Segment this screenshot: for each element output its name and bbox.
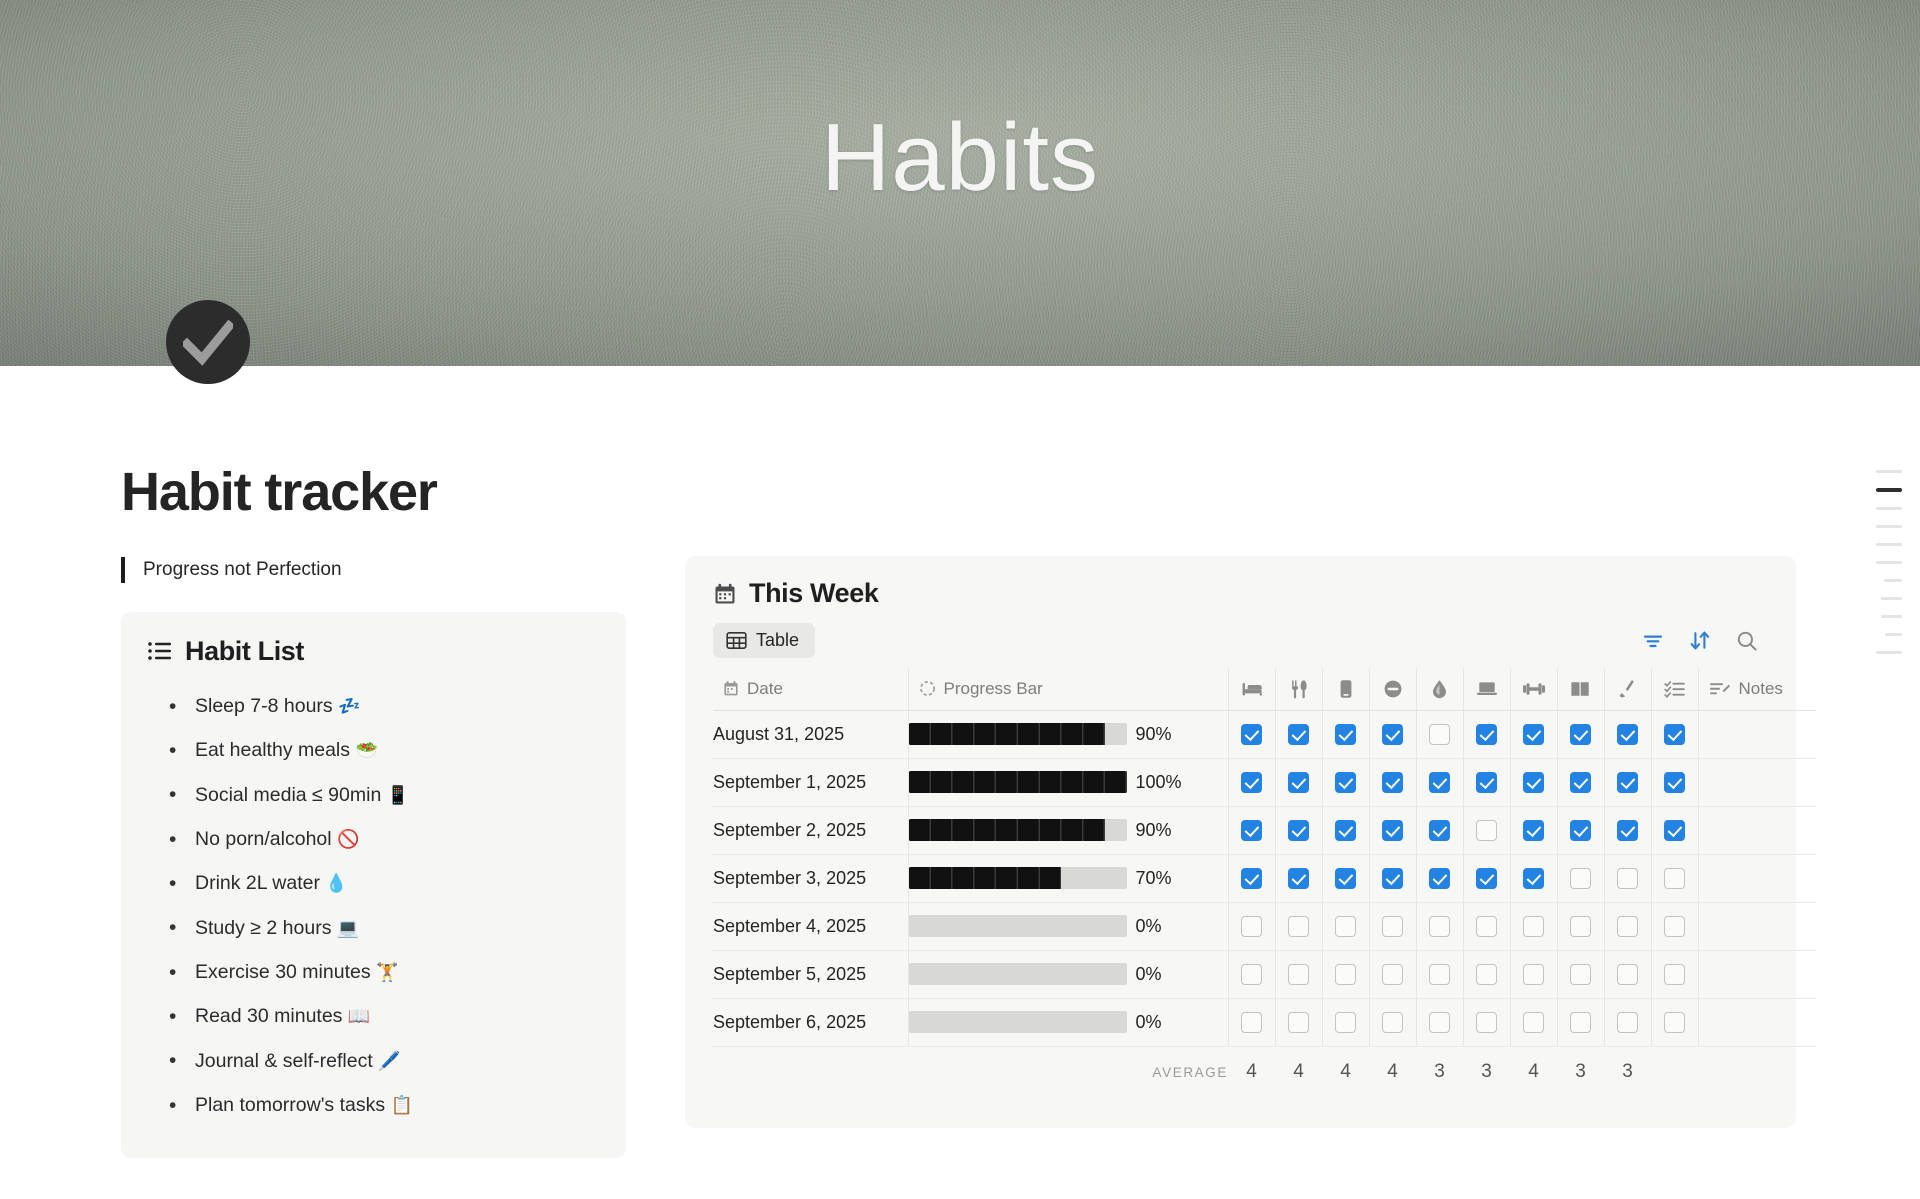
table-row[interactable]: August 31, 2025 90% [713,710,1816,758]
cell-notes[interactable] [1698,758,1816,806]
cell-checkbox[interactable] [1228,710,1275,758]
cell-checkbox[interactable] [1557,758,1604,806]
progress-bar [909,1011,1127,1033]
table-icon [726,630,747,651]
summary-value[interactable] [1651,1046,1698,1098]
habit-table: Date Progress Bar [713,668,1816,1098]
progress-percent: 70% [1136,868,1172,889]
fork-knife-icon [1290,679,1308,699]
list-item[interactable]: No porn/alcohol 🚫 [195,818,600,862]
habit-checkbox [1617,1012,1638,1033]
checklist-icon [1664,680,1686,698]
habit-checkbox [1241,724,1262,745]
outline-item[interactable] [1876,651,1902,654]
cell-checkbox[interactable] [1510,710,1557,758]
habit-checkbox [1664,724,1685,745]
habit-label: Sleep 7-8 hours [195,695,333,717]
habit-checkbox [1664,772,1685,793]
habit-checkbox [1382,1012,1403,1033]
summary-value[interactable]: 3 [1557,1046,1604,1098]
toolbar-icon-group [1642,630,1764,652]
cell-checkbox[interactable] [1557,806,1604,854]
outline-item[interactable] [1876,543,1902,546]
habit-checkbox [1570,1012,1591,1033]
cell-checkbox[interactable] [1228,902,1275,950]
list-item[interactable]: Drink 2L water 💧 [195,862,600,906]
habit-checkbox [1664,820,1685,841]
notes-pencil-icon [1709,680,1731,698]
cell-notes[interactable] [1698,854,1816,902]
habit-emoji: 📋 [391,1095,413,1115]
cell-checkbox[interactable] [1416,710,1463,758]
outline-item[interactable] [1884,579,1902,582]
habit-checkbox [1476,820,1497,841]
habit-checkbox [1241,1012,1262,1033]
habit-checkbox [1288,868,1309,889]
habit-checkbox [1382,868,1403,889]
table-row[interactable]: September 1, 2025 100% [713,758,1816,806]
habit-checkbox [1335,820,1356,841]
cell-checkbox[interactable] [1275,854,1322,902]
cell-checkbox[interactable] [1463,998,1510,1046]
habit-checkbox [1617,772,1638,793]
habit-checkbox [1570,772,1591,793]
habit-label: Social media ≤ 90min [195,784,381,806]
cell-checkbox[interactable] [1651,950,1698,998]
habit-emoji: 📱 [387,785,409,805]
habit-list-header: Habit List [147,636,600,667]
cell-checkbox[interactable] [1416,806,1463,854]
dumbbell-icon [1522,681,1546,697]
cell-checkbox[interactable] [1275,998,1322,1046]
habit-list-title: Habit List [185,636,304,667]
cell-checkbox[interactable] [1322,710,1369,758]
summary-value[interactable]: 3 [1463,1046,1510,1098]
outline-item[interactable] [1881,597,1902,600]
summary-label: AVERAGE [908,1046,1228,1098]
cell-checkbox[interactable] [1275,710,1322,758]
column-header-date[interactable]: Date [713,668,908,710]
cell-checkbox[interactable] [1416,998,1463,1046]
habit-checkbox [1288,964,1309,985]
habit-checkbox [1523,724,1544,745]
quote-block: Progress not Perfection [121,556,626,584]
habit-checkbox [1476,916,1497,937]
column-header-habit-read[interactable] [1557,668,1604,710]
cell-checkbox[interactable] [1463,710,1510,758]
habit-checkbox [1429,820,1450,841]
habit-checkbox [1523,820,1544,841]
cell-checkbox[interactable] [1322,902,1369,950]
book-icon [1570,680,1591,698]
cell-checkbox[interactable] [1463,758,1510,806]
habit-checkbox [1241,916,1262,937]
cell-notes[interactable] [1698,806,1816,854]
habit-checkbox [1335,772,1356,793]
habit-checkbox [1664,916,1685,937]
cell-notes[interactable] [1698,902,1816,950]
search-icon[interactable] [1736,630,1758,652]
progress-fill [909,867,1062,889]
cell-checkbox[interactable] [1369,950,1416,998]
cell-notes[interactable] [1698,998,1816,1046]
habit-checkbox [1335,964,1356,985]
column-header-habit-social-media[interactable] [1322,668,1369,710]
column-header-habit-meals[interactable] [1275,668,1322,710]
progress-percent: 100% [1136,772,1182,793]
habit-emoji: 🏋️ [376,962,398,982]
habit-label: No porn/alcohol [195,828,332,850]
outline-rail[interactable] [1876,470,1902,654]
habit-checkbox [1288,1012,1309,1033]
column-header-habit-water[interactable] [1416,668,1463,710]
rollup-icon [919,680,936,697]
cell-progress: 0% [908,950,1228,998]
habit-checkbox [1476,964,1497,985]
habit-checkbox [1241,772,1262,793]
habit-checkbox [1664,868,1685,889]
cell-date[interactable]: September 5, 2025 [713,950,908,998]
column-header-notes[interactable]: Notes [1698,668,1816,710]
cell-checkbox[interactable] [1510,950,1557,998]
cell-date[interactable]: September 1, 2025 [713,758,908,806]
outline-item[interactable] [1885,633,1902,636]
cell-checkbox[interactable] [1604,758,1651,806]
habit-checkbox [1523,964,1544,985]
tab-table-view[interactable]: Table [713,623,815,658]
cell-checkbox[interactable] [1557,854,1604,902]
brush-icon [1619,679,1637,698]
list-item[interactable]: Exercise 30 minutes 🏋️ [195,951,600,995]
summary-value[interactable]: 4 [1322,1046,1369,1098]
habit-label: Drink 2L water [195,872,320,894]
cell-progress: 90% [908,710,1228,758]
cell-checkbox[interactable] [1322,758,1369,806]
progress-bar [909,771,1127,793]
cell-checkbox[interactable] [1463,950,1510,998]
cell-checkbox[interactable] [1228,758,1275,806]
cell-checkbox[interactable] [1416,950,1463,998]
cell-checkbox[interactable] [1651,710,1698,758]
habit-checkbox [1429,868,1450,889]
progress-bar [909,867,1127,889]
table-body: August 31, 2025 90% [713,710,1816,1098]
habit-checkbox [1570,820,1591,841]
column-label-progress: Progress Bar [944,679,1043,699]
column-label-date: Date [747,679,783,699]
filter-icon[interactable] [1642,631,1664,651]
list-item[interactable]: Plan tomorrow's tasks 📋 [195,1084,600,1128]
cell-checkbox[interactable] [1228,854,1275,902]
habit-checkbox [1382,964,1403,985]
cell-checkbox[interactable] [1369,710,1416,758]
habit-label: Plan tomorrow's tasks [195,1094,385,1116]
habit-emoji: 💤 [338,696,360,716]
habit-checkbox [1523,868,1544,889]
habit-checkbox [1429,772,1450,793]
progress-bar [909,915,1127,937]
habit-checkbox [1523,772,1544,793]
habit-checkbox [1429,724,1450,745]
habit-checkbox [1241,820,1262,841]
this-week-header: This Week [713,578,1768,609]
cell-checkbox[interactable] [1275,902,1322,950]
calendar-icon [723,680,739,697]
cell-progress: 100% [908,758,1228,806]
column-header-habit-exercise[interactable] [1510,668,1557,710]
cell-checkbox[interactable] [1416,854,1463,902]
habit-label: Read 30 minutes [195,1005,342,1027]
habit-emoji: 💻 [337,918,359,938]
habit-checkbox [1476,868,1497,889]
cell-checkbox[interactable] [1463,902,1510,950]
cell-progress: 90% [908,806,1228,854]
this-week-database: This Week Table [685,556,1796,1128]
ban-icon [1383,679,1403,699]
this-week-title: This Week [749,578,878,609]
column-header-habit-plan[interactable] [1651,668,1698,710]
cell-checkbox[interactable] [1510,998,1557,1046]
list-item[interactable]: Read 30 minutes 📖 [195,995,600,1039]
cell-checkbox[interactable] [1604,710,1651,758]
outline-item[interactable] [1876,488,1902,492]
cell-date[interactable]: September 2, 2025 [713,806,908,854]
habit-checkbox [1476,724,1497,745]
cell-checkbox[interactable] [1604,902,1651,950]
cell-checkbox[interactable] [1322,950,1369,998]
habit-checkbox [1429,916,1450,937]
habit-checkbox [1335,724,1356,745]
habit-checkbox [1476,1012,1497,1033]
habit-checkbox [1335,1012,1356,1033]
column-header-habit-no-porn-alcohol[interactable] [1369,668,1416,710]
habit-checkbox [1335,916,1356,937]
habit-checkbox [1382,724,1403,745]
habit-checkbox [1523,916,1544,937]
progress-bar [909,963,1127,985]
cell-checkbox[interactable] [1651,998,1698,1046]
habit-checkbox [1617,820,1638,841]
summary-value[interactable]: 3 [1604,1046,1651,1098]
progress-bar [909,819,1127,841]
check-circle-icon[interactable] [166,300,250,384]
progress-percent: 90% [1136,820,1172,841]
outline-item[interactable] [1881,615,1902,618]
cell-checkbox[interactable] [1416,758,1463,806]
cell-checkbox[interactable] [1369,854,1416,902]
progress-percent: 90% [1136,724,1172,745]
cell-checkbox[interactable] [1369,902,1416,950]
cell-checkbox[interactable] [1322,998,1369,1046]
list-item[interactable]: Journal & self-reflect 🖊️ [195,1039,600,1083]
progress-fill [909,723,1105,745]
list-item[interactable]: Study ≥ 2 hours 💻 [195,906,600,950]
cell-checkbox[interactable] [1510,854,1557,902]
laptop-icon [1476,680,1498,697]
cell-checkbox[interactable] [1510,902,1557,950]
cover-banner: Habits [0,0,1920,366]
habit-emoji: 🚫 [337,829,359,849]
cell-checkbox[interactable] [1557,902,1604,950]
cell-checkbox[interactable] [1651,902,1698,950]
habit-checkbox [1617,724,1638,745]
cell-date[interactable]: September 4, 2025 [713,902,908,950]
habit-checkbox [1288,820,1309,841]
progress-percent: 0% [1136,964,1162,985]
calendar-icon [713,582,737,606]
progress-bar [909,723,1127,745]
progress-percent: 0% [1136,916,1162,937]
cell-checkbox[interactable] [1228,950,1275,998]
quote-text: Progress not Perfection [143,559,342,580]
cell-progress: 0% [908,998,1228,1046]
phone-icon [1339,679,1353,699]
cell-notes[interactable] [1698,950,1816,998]
cell-checkbox[interactable] [1275,806,1322,854]
habit-label: Journal & self-reflect [195,1050,373,1072]
habit-label: Exercise 30 minutes [195,961,371,983]
cell-checkbox[interactable] [1510,758,1557,806]
cell-checkbox[interactable] [1369,758,1416,806]
column-label-notes: Notes [1739,679,1783,699]
habit-checkbox [1476,772,1497,793]
summary-row: AVERAGE 4 4 4 4 3 3 4 3 3 [713,1046,1816,1098]
habit-checkbox [1429,1012,1450,1033]
cell-checkbox[interactable] [1322,806,1369,854]
cell-checkbox[interactable] [1510,806,1557,854]
table-row[interactable]: September 2, 2025 90% [713,806,1816,854]
habit-checkbox [1570,964,1591,985]
habit-label: Eat healthy meals [195,739,350,761]
bed-icon [1241,680,1263,698]
cell-checkbox[interactable] [1275,758,1322,806]
list-item[interactable]: Sleep 7-8 hours 💤 [195,685,600,729]
cell-checkbox[interactable] [1557,710,1604,758]
table-header-row: Date Progress Bar [713,668,1816,710]
habit-label: Study ≥ 2 hours [195,917,331,939]
cover-title: Habits [0,108,1920,209]
summary-value[interactable]: 4 [1228,1046,1275,1098]
cell-checkbox[interactable] [1416,902,1463,950]
progress-percent: 0% [1136,1012,1162,1033]
cell-checkbox[interactable] [1228,998,1275,1046]
cell-checkbox[interactable] [1369,806,1416,854]
habit-checkbox [1617,964,1638,985]
cell-checkbox[interactable] [1557,998,1604,1046]
habit-checkbox [1288,724,1309,745]
outline-item[interactable] [1876,525,1902,528]
cell-progress: 0% [908,902,1228,950]
summary-value[interactable]: 3 [1416,1046,1463,1098]
cell-checkbox[interactable] [1369,998,1416,1046]
habit-checkbox [1617,868,1638,889]
habit-checkbox [1570,916,1591,937]
cell-checkbox[interactable] [1651,758,1698,806]
summary-value[interactable]: 4 [1275,1046,1322,1098]
habit-checkbox [1241,868,1262,889]
cell-checkbox[interactable] [1651,854,1698,902]
habit-checkbox [1523,1012,1544,1033]
cell-notes[interactable] [1698,710,1816,758]
cell-checkbox[interactable] [1322,854,1369,902]
habit-checkbox [1382,772,1403,793]
habit-checkbox [1288,772,1309,793]
droplet-icon [1431,679,1448,699]
habit-checkbox [1617,916,1638,937]
cell-checkbox[interactable] [1651,806,1698,854]
progress-fill [909,819,1105,841]
habit-checkbox [1570,724,1591,745]
habit-checkbox [1241,964,1262,985]
cell-date[interactable]: August 31, 2025 [713,710,908,758]
cell-checkbox[interactable] [1604,854,1651,902]
table-row[interactable]: September 3, 2025 70% [713,854,1816,902]
summary-value[interactable]: 4 [1369,1046,1416,1098]
outline-item[interactable] [1876,561,1902,564]
list-item[interactable]: Social media ≤ 90min 📱 [195,773,600,817]
database-toolbar: Table [713,623,1768,658]
outline-item[interactable] [1876,470,1902,473]
habit-checkbox [1664,964,1685,985]
habit-checkbox [1570,868,1591,889]
table-row[interactable]: September 5, 2025 0% [713,950,1816,998]
habit-checkbox [1429,964,1450,985]
habit-checkbox [1335,868,1356,889]
table-row[interactable]: September 4, 2025 0% [713,902,1816,950]
outline-item[interactable] [1876,507,1902,510]
summary-value[interactable]: 4 [1510,1046,1557,1098]
cell-checkbox[interactable] [1228,806,1275,854]
cell-checkbox[interactable] [1275,950,1322,998]
summary-spacer [1698,1046,1816,1098]
bulleted-list-icon [147,640,173,662]
summary-spacer [713,1046,908,1098]
column-header-habit-journal[interactable] [1604,668,1651,710]
habit-emoji: 🥗 [355,740,377,760]
column-header-habit-sleep[interactable] [1228,668,1275,710]
cell-checkbox[interactable] [1463,854,1510,902]
cell-date[interactable]: September 6, 2025 [713,998,908,1046]
cell-checkbox[interactable] [1557,950,1604,998]
cell-progress: 70% [908,854,1228,902]
cell-checkbox[interactable] [1604,998,1651,1046]
habit-items-list: Sleep 7-8 hours 💤 Eat healthy meals 🥗 So… [195,685,600,1128]
habit-checkbox [1382,916,1403,937]
habit-checkbox [1382,820,1403,841]
table-row[interactable]: September 6, 2025 0% [713,998,1816,1046]
sort-icon[interactable] [1689,630,1711,651]
habit-checkbox [1288,916,1309,937]
cell-checkbox[interactable] [1604,806,1651,854]
habit-checkbox [1664,1012,1685,1033]
habit-emoji: 🖊️ [378,1051,400,1071]
left-column: Progress not Perfection Habit List [121,556,626,1158]
cell-checkbox[interactable] [1463,806,1510,854]
page-title: Habit tracker [121,461,437,523]
list-item[interactable]: Eat healthy meals 🥗 [195,729,600,773]
column-header-progress[interactable]: Progress Bar [908,668,1228,710]
habit-emoji: 📖 [348,1006,370,1026]
progress-fill [909,771,1127,793]
habit-emoji: 💧 [325,873,347,893]
cell-date[interactable]: September 3, 2025 [713,854,908,902]
cell-checkbox[interactable] [1604,950,1651,998]
tab-table-label: Table [756,630,799,651]
habit-list-card: Habit List Sleep 7-8 hours 💤 Eat healthy… [121,612,626,1158]
column-header-habit-study[interactable] [1463,668,1510,710]
